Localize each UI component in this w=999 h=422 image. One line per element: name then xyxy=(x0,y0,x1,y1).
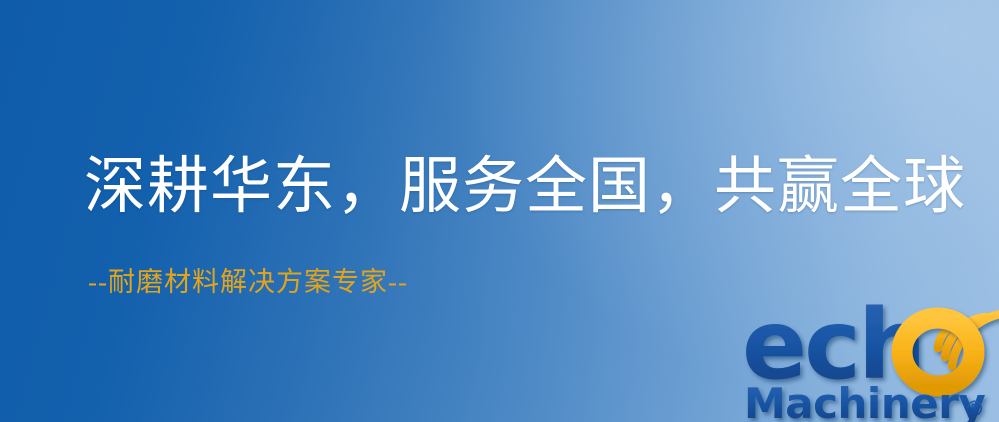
banner-subtitle: --耐磨材料解决方案专家-- xyxy=(88,266,408,298)
svg-text:Machinery: Machinery xyxy=(744,379,985,422)
hero-banner: 深耕华东，服务全国，共赢全球 --耐磨材料解决方案专家-- xyxy=(0,0,999,422)
echo-machinery-logo: ech Machinery ® xyxy=(742,296,999,422)
logo-word-machinery: Machinery ® xyxy=(744,379,985,422)
registered-trademark-icon: ® xyxy=(964,397,985,421)
banner-headline: 深耕华东，服务全国，共赢全球 xyxy=(84,152,966,222)
